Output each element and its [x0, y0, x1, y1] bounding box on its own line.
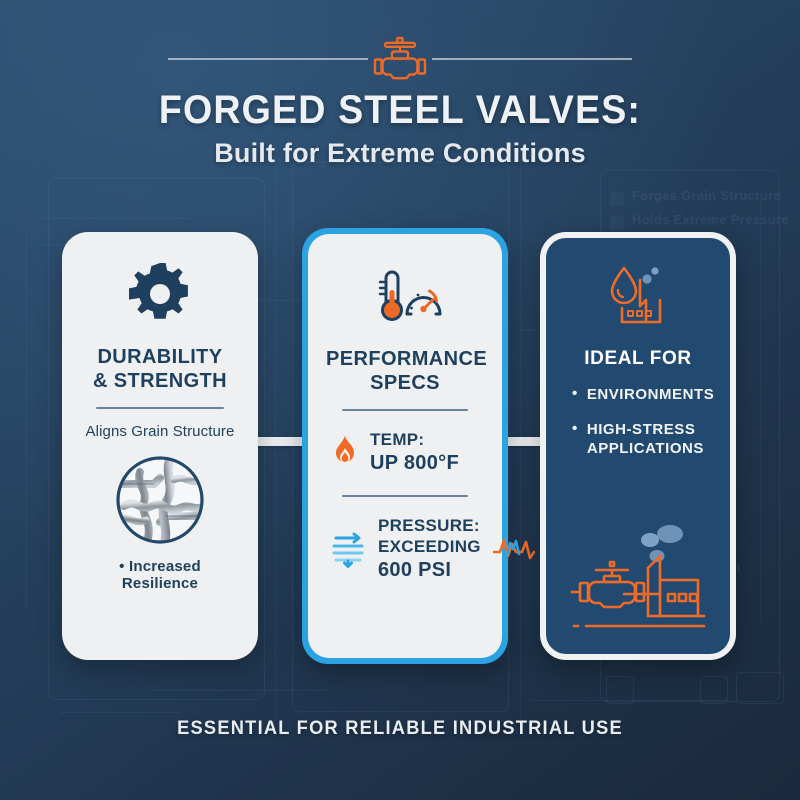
- card-ideal-for-bullet-1: • ENVIRONMENTS: [572, 386, 712, 405]
- card-durability[interactable]: DURABILITY & STRENGTH Aligns Grain Struc…: [62, 232, 258, 660]
- card-ideal-for-bullet-2: • HIGH-STRESS APPLICATIONS: [572, 421, 712, 459]
- grain-structure-icon: [80, 454, 240, 546]
- spec-temp-value: UP 800°F: [370, 451, 478, 477]
- card-ideal-for-title: IDEAL FOR: [564, 348, 712, 370]
- card-ideal-for-bullet-1-line1: ENVIRONMENTS: [587, 386, 714, 403]
- spec-row-pressure: PRESSURE: EXCEEDING 600 PSI: [326, 515, 484, 584]
- gate-valve-icon: [368, 34, 432, 84]
- card-performance-title-line1: PERFORMANCE: [326, 348, 484, 372]
- spec-row-temp: TEMP: UP 800°F: [326, 429, 484, 476]
- card-durability-title-line1: DURABILITY: [80, 346, 240, 370]
- flame-icon: [332, 436, 358, 470]
- spec-pressure-value: 600 PSI: [378, 558, 481, 584]
- divider-right: [432, 58, 632, 60]
- card-ideal-for-bullet-2-line1: HIGH-STRESS: [587, 421, 696, 438]
- header-divider-row: [168, 34, 632, 84]
- bullet-dot-icon: •: [572, 421, 578, 459]
- bullet-dot-icon: •: [572, 386, 578, 405]
- infographic-canvas: Forges Grain Structure Holds Extreme Pre…: [0, 0, 800, 800]
- footer-tagline: ESSENTIAL FOR RELIABLE INDUSTRIAL USE: [16, 718, 784, 740]
- spec-temp-text: TEMP: UP 800°F: [370, 429, 478, 476]
- spec-temp-label: TEMP:: [370, 430, 424, 449]
- card-durability-title: DURABILITY & STRENGTH: [80, 346, 240, 393]
- card-ideal-for[interactable]: IDEAL FOR • ENVIRONMENTS • HIGH-STRESS A…: [540, 232, 736, 660]
- connector-card1-card2: [250, 437, 310, 446]
- card-durability-bullet-text: Increased Resilience: [122, 558, 201, 592]
- spec-pressure-text: PRESSURE: EXCEEDING 600 PSI: [378, 515, 481, 584]
- card-durability-note: Aligns Grain Structure: [80, 423, 240, 440]
- spec-pressure-label: PRESSURE:: [378, 516, 480, 535]
- card-performance-rule-1: [342, 409, 468, 411]
- card-ideal-for-bullets: • ENVIRONMENTS • HIGH-STRESS APPLICATION…: [564, 386, 712, 458]
- card-performance-rule-2: [342, 495, 468, 497]
- waveform-icon: [493, 534, 535, 564]
- gear-icon: [80, 258, 240, 330]
- card-performance-title-line2: SPECS: [326, 372, 484, 396]
- card-performance-title: PERFORMANCE SPECS: [326, 348, 484, 395]
- thermometer-gauge-icon: [326, 260, 484, 332]
- divider-left: [168, 58, 368, 60]
- valve-factory-icon: [546, 520, 730, 638]
- ghost-label-2: Holds Extreme Pressure: [632, 212, 789, 227]
- page-title: FORGED STEEL VALVES:: [24, 88, 776, 133]
- pressure-flow-icon: [332, 530, 366, 568]
- ghost-label-1: Forges Grain Structure: [632, 188, 781, 203]
- droplet-factory-icon: [564, 260, 712, 332]
- card-durability-title-line2: & STRENGTH: [80, 370, 240, 394]
- spec-pressure-label2: EXCEEDING: [378, 537, 481, 556]
- card-ideal-for-bullet-2-line2: APPLICATIONS: [587, 440, 704, 457]
- card-performance[interactable]: PERFORMANCE SPECS TEMP: U: [302, 228, 508, 664]
- card-durability-bullet: • Increased Resilience: [80, 558, 240, 592]
- bullet-dot-icon: •: [119, 558, 124, 575]
- card-durability-rule: [96, 407, 224, 409]
- page-subtitle: Built for Extreme Conditions: [0, 138, 800, 169]
